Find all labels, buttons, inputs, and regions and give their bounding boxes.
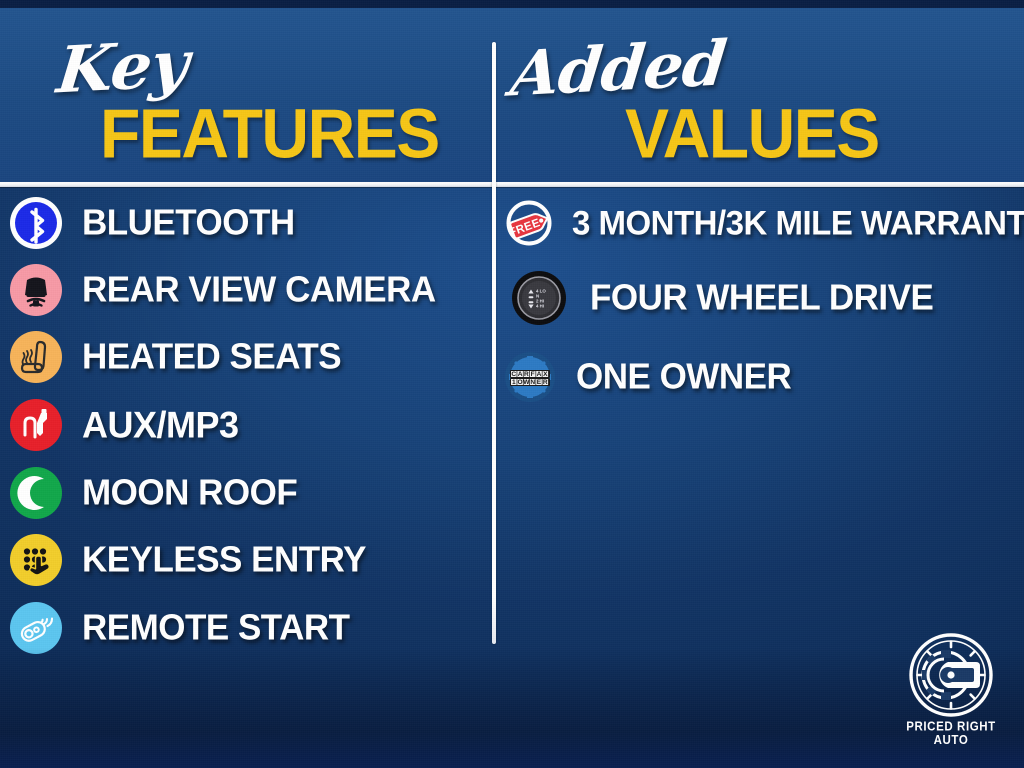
list-item-label: HEATED SEATS: [82, 336, 341, 378]
horizontal-divider: [0, 182, 1024, 187]
svg-text:A: A: [518, 371, 523, 378]
carfax-one-owner-icon: C A R F A X: [500, 347, 560, 407]
svg-text:R: R: [524, 371, 529, 378]
heated-seat-icon: [8, 329, 64, 385]
svg-text:O: O: [518, 379, 523, 386]
dealer-logo[interactable]: PRICED RIGHT AUTO: [892, 632, 1010, 746]
top-strip: [0, 0, 1024, 8]
added-values-list: FREE 3 MONTH/3K MILE WARRANTY: [498, 190, 1024, 414]
svg-text:F: F: [531, 371, 535, 378]
list-item-label: KEYLESS ENTRY: [82, 539, 366, 581]
svg-text:A: A: [537, 371, 542, 378]
list-item[interactable]: KEYLESS ENTRY: [8, 526, 492, 594]
list-item-label: REAR VIEW CAMERA: [82, 269, 436, 311]
svg-text:E: E: [537, 379, 542, 386]
list-item[interactable]: HEATED SEATS: [8, 323, 492, 391]
svg-text:R: R: [543, 379, 548, 386]
shift-knob-4wd-icon: 4 LO N 2 HI 4 HI: [510, 269, 568, 327]
list-item-label: ONE OWNER: [576, 356, 791, 398]
bottom-vignette: [0, 648, 1024, 768]
keypad-hand-icon: [8, 532, 64, 588]
list-item[interactable]: BLUETOOTH: [8, 190, 492, 256]
header-right-title: VALUES: [625, 93, 879, 174]
svg-text:1: 1: [512, 379, 516, 386]
vehicle-feature-poster: Key FEATURES Added VALUES BLUETOOTH: [0, 0, 1024, 768]
list-item-label: BLUETOOTH: [82, 202, 295, 244]
svg-text:C: C: [511, 371, 516, 378]
gear-wrench-circle-icon: [908, 632, 994, 718]
svg-text:4 HI: 4 HI: [536, 304, 544, 309]
rear-view-camera-icon: [8, 262, 64, 318]
dealer-logo-text: PRICED RIGHT AUTO: [892, 721, 1010, 747]
aux-plug-icon: [8, 397, 64, 453]
key-features-list: BLUETOOTH REAR VIEW CAMERA: [0, 190, 492, 662]
list-item[interactable]: MOON ROOF: [8, 459, 492, 526]
list-item-label: AUX/MP3: [82, 403, 239, 447]
svg-text:N: N: [530, 379, 535, 386]
bluetooth-icon: [8, 195, 64, 251]
list-item-label: FOUR WHEEL DRIVE: [590, 277, 933, 319]
svg-text:X: X: [543, 371, 548, 378]
vertical-divider: [492, 42, 496, 644]
list-item[interactable]: FREE 3 MONTH/3K MILE WARRANTY: [502, 190, 1024, 256]
list-item[interactable]: C A R F A X: [500, 340, 1024, 414]
list-item[interactable]: REAR VIEW CAMERA: [8, 256, 492, 323]
svg-text:W: W: [523, 379, 530, 386]
list-item-label: 3 MONTH/3K MILE WARRANTY: [572, 203, 1024, 243]
list-item-label: MOON ROOF: [82, 472, 297, 514]
list-item[interactable]: 4 LO N 2 HI 4 HI FOUR WHEEL DRIVE: [510, 256, 1024, 340]
crescent-moon-icon: [8, 465, 64, 521]
list-item[interactable]: AUX/MP3: [8, 391, 492, 459]
free-tag-icon: FREE: [502, 195, 558, 251]
list-item-label: REMOTE START: [82, 607, 350, 649]
header-left-title: FEATURES: [100, 93, 439, 174]
